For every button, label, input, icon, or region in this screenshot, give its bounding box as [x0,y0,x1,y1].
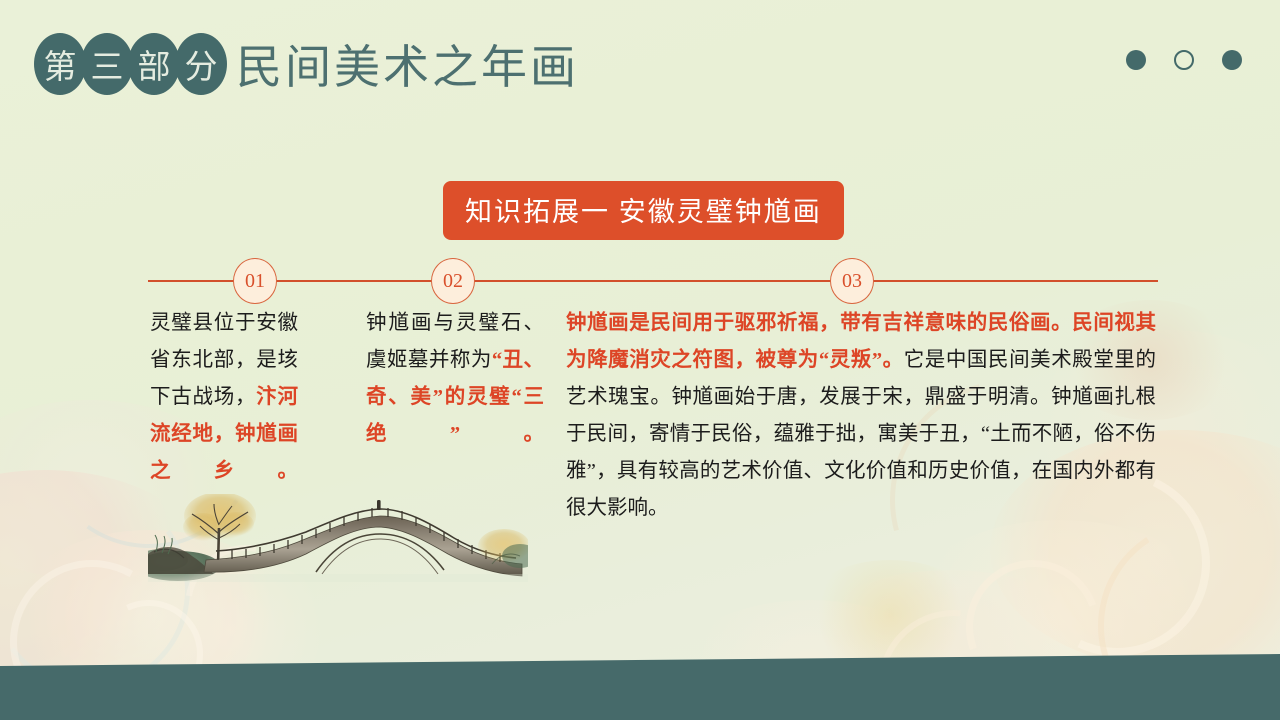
content-column-3: 钟馗画是民间用于驱邪祈福，带有吉祥意味的民俗画。民间视其为降魔消灾之符图，被尊为… [566,305,1156,527]
timeline-node-02[interactable]: 02 [431,258,475,304]
knowledge-expansion-banner: 知识拓展一 安徽灵璧钟馗画 [443,181,844,240]
section-badge-group: 第 三 部 分 [34,33,222,95]
progress-dot-3-filled[interactable] [1222,50,1242,70]
column-3-plain-text: 它是中国民间美术殿堂里的艺术瑰宝。钟馗画始于唐，发展于宋，鼎盛于明清。钟馗画扎根… [566,349,1156,519]
section-badge-1: 第 [34,33,86,95]
slide-progress-dots[interactable] [1126,50,1242,70]
cloud-shape [800,560,980,670]
section-badge-4: 分 [175,33,227,95]
content-column-1: 灵璧县位于安徽省东北部，是垓下古战场，汴河流经地，钟馗画之乡。 [150,305,298,490]
timeline-line [148,280,1158,282]
bridge-illustration [148,494,528,589]
slide: 第 三 部 分 民间美术之年画 知识拓展一 安徽灵璧钟馗画 01 02 03 灵… [0,0,1280,720]
section-badge-3: 部 [128,33,180,95]
bridge-ink-painting-icon [148,494,528,589]
page-title: 第 三 部 分 民间美术之年画 [34,28,579,100]
section-badge-2: 三 [81,33,133,95]
timeline: 01 02 03 [148,258,1158,304]
progress-dot-2-hollow[interactable] [1174,50,1194,70]
footer-bar [0,654,1280,720]
timeline-node-03[interactable]: 03 [830,258,874,304]
title-text: 民间美术之年画 [236,31,579,97]
progress-dot-1-filled[interactable] [1126,50,1146,70]
content-column-2: 钟馗画与灵璧石、虞姬墓并称为“丑、奇、美”的灵璧“三绝”。 [366,305,544,453]
timeline-node-01[interactable]: 01 [233,258,277,304]
